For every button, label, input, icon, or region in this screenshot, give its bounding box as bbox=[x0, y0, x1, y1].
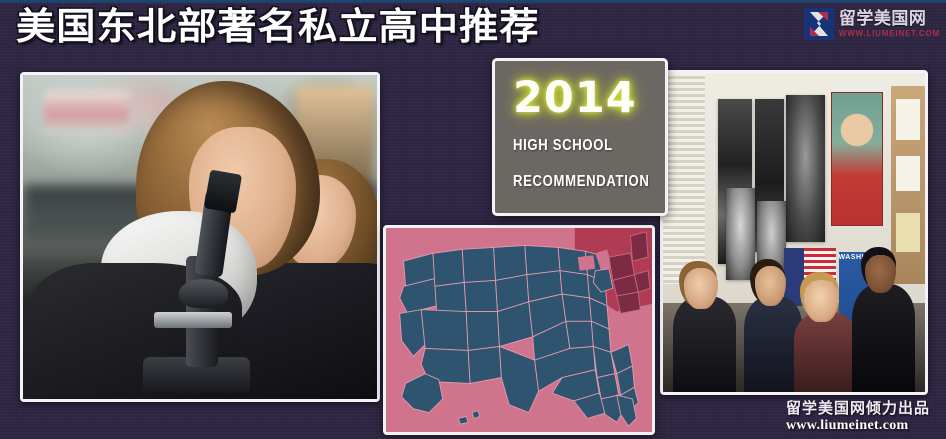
lab-poster bbox=[44, 91, 129, 133]
brand-url: WWW.LIUMEINET.COM bbox=[839, 30, 940, 38]
brand-logo[interactable]: 留学美国网 WWW.LIUMEINET.COM bbox=[804, 8, 940, 40]
illustrated-poster bbox=[831, 92, 883, 226]
brand-name: 留学美国网 bbox=[839, 11, 940, 28]
footer-credit-url: www.liumeinet.com bbox=[786, 418, 930, 433]
footer-credit: 留学美国网倾力出品 www.liumeinet.com bbox=[786, 400, 930, 433]
student-b-clothing bbox=[235, 263, 377, 399]
seated-student-1 bbox=[673, 296, 736, 392]
promo-banner: 美国东北部著名私立高中推荐 留学美国网 WWW.LIUMEINET.COM bbox=[0, 0, 946, 439]
window-blinds bbox=[663, 73, 705, 284]
pinned-paper-2 bbox=[896, 156, 920, 191]
seated-student-4 bbox=[852, 284, 915, 392]
seated-student-2-head bbox=[755, 266, 786, 306]
year-label: 2014 bbox=[513, 75, 665, 121]
brand-text-block: 留学美国网 WWW.LIUMEINET.COM bbox=[839, 11, 940, 38]
seated-student-4-head bbox=[865, 255, 896, 293]
usa-map bbox=[383, 225, 655, 435]
brand-diamond-icon bbox=[804, 8, 834, 40]
wall-artwork-4 bbox=[726, 188, 755, 281]
footer-credit-cn: 留学美国网倾力出品 bbox=[786, 400, 930, 416]
pinned-paper-3 bbox=[896, 213, 920, 251]
photo-microscope-lab bbox=[20, 72, 380, 402]
classroom-scene: WASHINGTON bbox=[663, 73, 925, 392]
subtitle-line-1: HIGH SCHOOL bbox=[513, 137, 638, 155]
pinned-paper-1 bbox=[896, 99, 920, 140]
microscope-eyepiece bbox=[204, 170, 242, 214]
microscope-scene bbox=[23, 75, 377, 399]
seated-student-3-head bbox=[804, 280, 838, 321]
seated-student-3 bbox=[794, 312, 857, 392]
subtitle-line-2: RECOMMENDATION bbox=[513, 173, 638, 191]
microscope-objective bbox=[179, 279, 229, 308]
wall-artwork-3 bbox=[786, 95, 825, 242]
photo-classroom-discussion: WASHINGTON bbox=[660, 70, 928, 395]
page-title: 美国东北部著名私立高中推荐 bbox=[16, 3, 540, 51]
seated-student-1-head bbox=[684, 268, 718, 309]
microscope-stage bbox=[154, 312, 232, 328]
year-callout-box: 2014 HIGH SCHOOL RECOMMENDATION bbox=[492, 58, 668, 216]
